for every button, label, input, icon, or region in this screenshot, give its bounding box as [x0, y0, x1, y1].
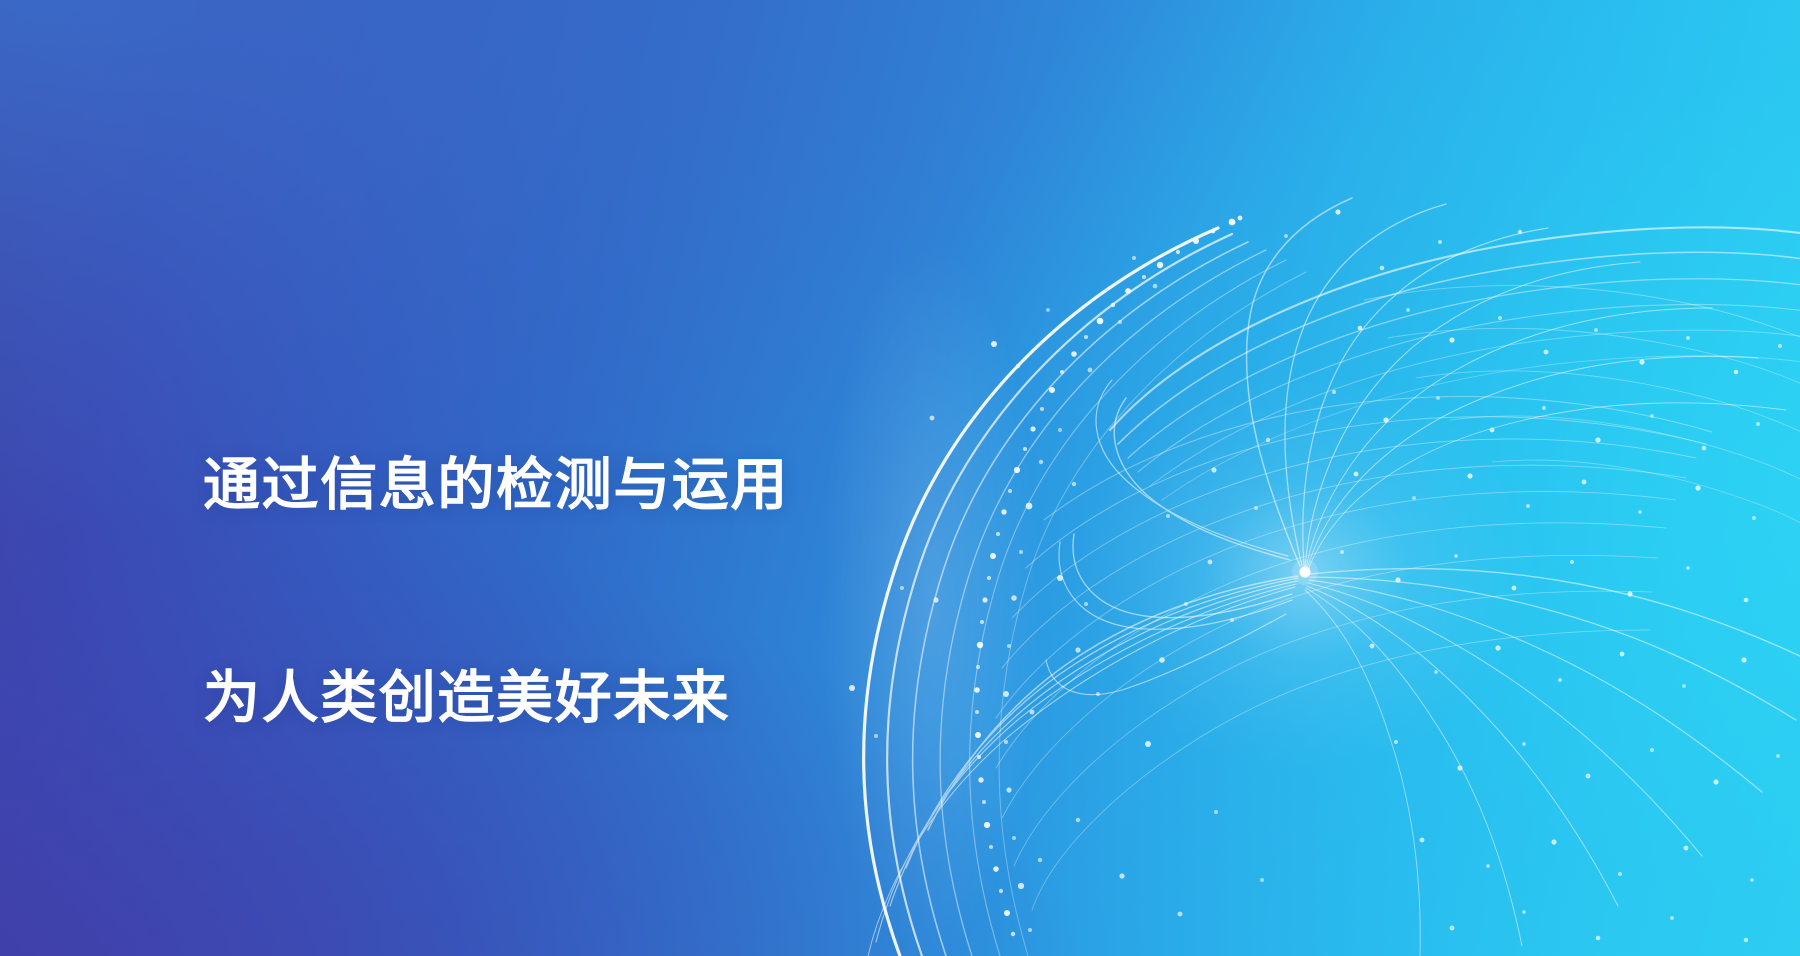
headline-line-1: 通过信息的检测与运用 — [203, 450, 963, 521]
hero-banner: 通过信息的检测与运用 为人类创造美好未来 — [0, 0, 1800, 956]
headline-line-2: 为人类创造美好未来 — [203, 663, 963, 734]
headline: 通过信息的检测与运用 为人类创造美好未来 — [203, 308, 963, 876]
